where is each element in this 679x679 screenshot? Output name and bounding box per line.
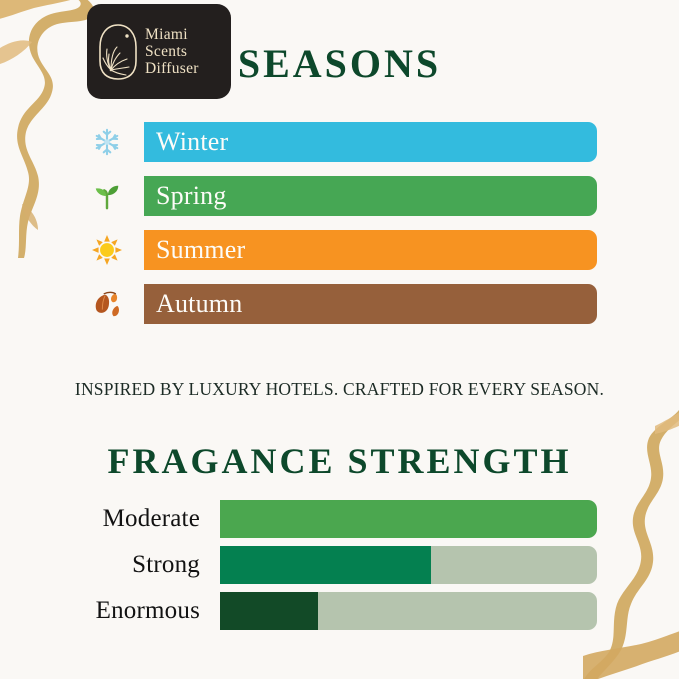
strength-label-strong: Strong: [0, 546, 200, 584]
strength-fill-strong: [220, 546, 431, 584]
season-label-autumn: Autumn: [144, 289, 242, 319]
season-bar-summer: Summer: [144, 230, 597, 270]
fallen-leaf-icon: [86, 284, 128, 324]
strength-row-moderate: Moderate: [0, 500, 679, 538]
strength-track-strong: [220, 546, 597, 584]
strength-title: FRAGANCE STRENGTH: [0, 440, 679, 482]
season-bar-spring: Spring: [144, 176, 597, 216]
season-row-autumn: Autumn: [0, 284, 679, 324]
snowflake-icon: [86, 122, 128, 162]
seedling-icon: [86, 176, 128, 216]
strength-track-enormous: [220, 592, 597, 630]
season-bar-winter: Winter: [144, 122, 597, 162]
strength-row-strong: Strong: [0, 546, 679, 584]
season-label-spring: Spring: [144, 181, 227, 211]
season-label-summer: Summer: [144, 235, 245, 265]
season-row-summer: Summer: [0, 230, 679, 270]
strength-list: Moderate Strong Enormous: [0, 500, 679, 638]
strength-fill-moderate: [220, 500, 597, 538]
strength-fill-enormous: [220, 592, 318, 630]
season-label-winter: Winter: [144, 127, 228, 157]
seasons-title: SEASONS: [0, 40, 679, 87]
strength-track-moderate: [220, 500, 597, 538]
infographic-canvas: Miami Scents Diffuser SEASONS: [0, 0, 679, 679]
season-row-winter: Winter: [0, 122, 679, 162]
season-row-spring: Spring: [0, 176, 679, 216]
sun-icon: [86, 230, 128, 270]
season-bar-autumn: Autumn: [144, 284, 597, 324]
strength-label-moderate: Moderate: [0, 500, 200, 538]
seasons-list: Winter Spring: [0, 122, 679, 338]
tagline: INSPIRED BY LUXURY HOTELS. CRAFTED FOR E…: [0, 379, 679, 400]
strength-row-enormous: Enormous: [0, 592, 679, 630]
strength-label-enormous: Enormous: [0, 592, 200, 630]
